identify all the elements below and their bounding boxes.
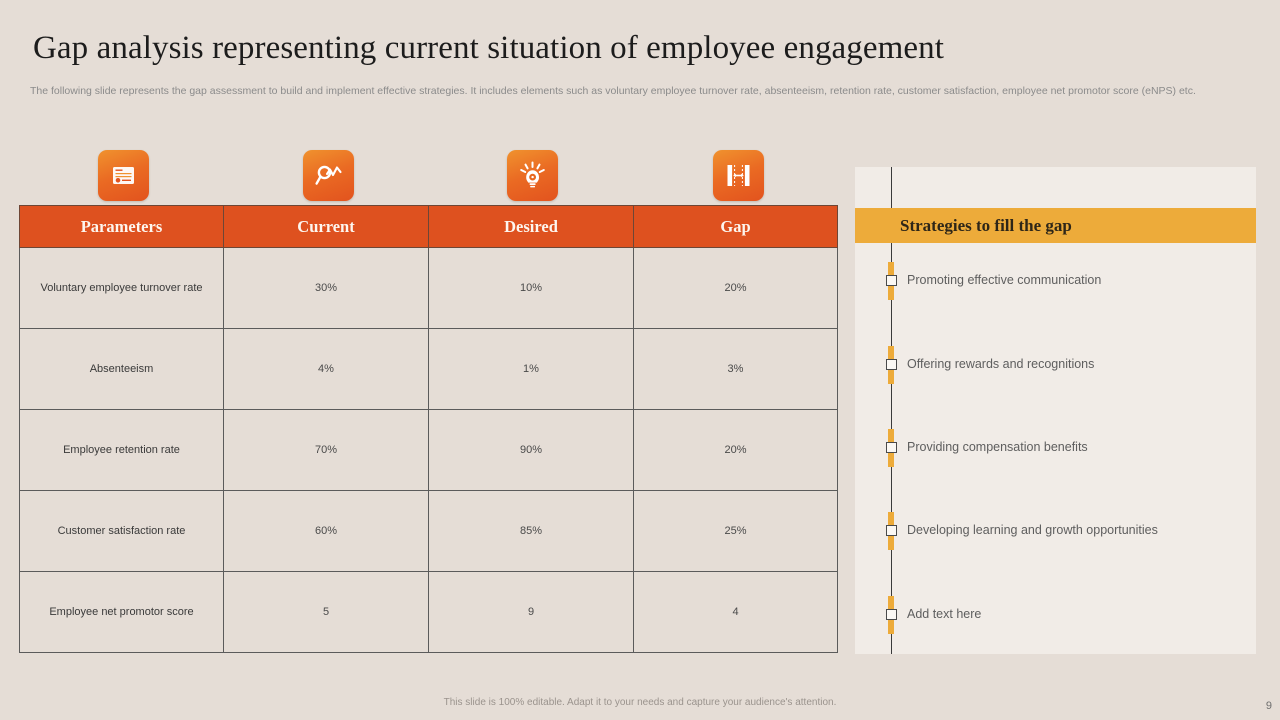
cell-gap: 4 [634, 572, 838, 653]
cell-parameter: Customer satisfaction rate [20, 491, 224, 572]
cell-parameter: Voluntary employee turnover rate [20, 248, 224, 329]
cell-parameter: Absenteeism [20, 329, 224, 410]
table-row: Employee net promotor score 5 9 4 [20, 572, 838, 653]
strategies-heading-label: Strategies to fill the gap [900, 216, 1072, 236]
table-header-row: Parameters Current Desired Gap [20, 206, 838, 248]
cell-current: 30% [224, 248, 429, 329]
cell-parameter: Employee net promotor score [20, 572, 224, 653]
strategies-panel: Strategies to fill the gap Promoting eff… [855, 167, 1256, 654]
column-header-current: Current [224, 206, 429, 248]
table-row: Customer satisfaction rate 60% 85% 25% [20, 491, 838, 572]
page-title: Gap analysis representing current situat… [33, 30, 944, 67]
gap-measure-icon [713, 150, 764, 201]
table-row: Voluntary employee turnover rate 30% 10%… [20, 248, 838, 329]
column-header-gap: Gap [634, 206, 838, 248]
cell-desired: 85% [429, 491, 634, 572]
cell-desired: 90% [429, 410, 634, 491]
cell-desired: 10% [429, 248, 634, 329]
cell-gap: 20% [634, 248, 838, 329]
page-subtitle: The following slide represents the gap a… [30, 84, 1220, 98]
magnifier-chart-icon [303, 150, 354, 201]
timeline-marker[interactable] [886, 359, 897, 370]
strategy-item-label: Offering rewards and recognitions [907, 357, 1094, 371]
strategy-item-label: Developing learning and growth opportuni… [907, 523, 1158, 537]
gap-analysis-table: Parameters Current Desired Gap Voluntary… [19, 205, 838, 653]
cell-current: 4% [224, 329, 429, 410]
column-header-parameters: Parameters [20, 206, 224, 248]
cell-current: 60% [224, 491, 429, 572]
cell-current: 5 [224, 572, 429, 653]
cell-parameter: Employee retention rate [20, 410, 224, 491]
table-row: Employee retention rate 70% 90% 20% [20, 410, 838, 491]
timeline-marker[interactable] [886, 442, 897, 453]
strategy-item-label: Add text here [907, 607, 981, 621]
table-row: Absenteeism 4% 1% 3% [20, 329, 838, 410]
cell-desired: 1% [429, 329, 634, 410]
footer-note: This slide is 100% editable. Adapt it to… [0, 697, 1280, 708]
cell-desired: 9 [429, 572, 634, 653]
timeline-marker[interactable] [886, 275, 897, 286]
strategy-item-label: Promoting effective communication [907, 273, 1101, 287]
column-header-desired: Desired [429, 206, 634, 248]
strategies-heading-band: Strategies to fill the gap [855, 208, 1256, 243]
column-icon-row [0, 150, 840, 202]
idea-bulb-gear-icon [507, 150, 558, 201]
cell-gap: 3% [634, 329, 838, 410]
cell-gap: 20% [634, 410, 838, 491]
timeline-marker[interactable] [886, 609, 897, 620]
page-number: 9 [1266, 700, 1272, 712]
cell-gap: 25% [634, 491, 838, 572]
strategy-item-label: Providing compensation benefits [907, 440, 1088, 454]
timeline-marker[interactable] [886, 525, 897, 536]
cell-current: 70% [224, 410, 429, 491]
report-card-icon [98, 150, 149, 201]
